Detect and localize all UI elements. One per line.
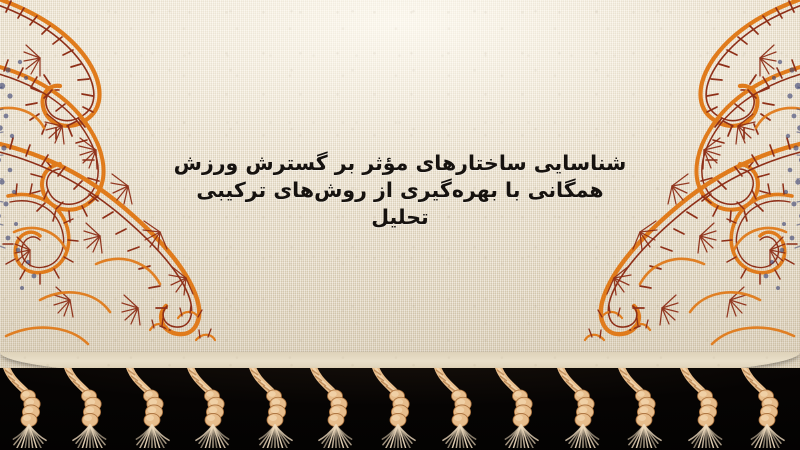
tassel bbox=[125, 368, 183, 448]
tassel bbox=[494, 368, 552, 448]
tassel bbox=[63, 368, 121, 448]
tassel bbox=[309, 368, 367, 448]
tassel bbox=[679, 368, 737, 448]
tassel bbox=[617, 368, 675, 448]
tassel bbox=[2, 368, 60, 448]
slide-title: شناسایی ساختارهای مؤثر بر گسترش ورزش همگ… bbox=[0, 150, 800, 231]
title-slide: شناسایی ساختارهای مؤثر بر گسترش ورزش همگ… bbox=[0, 0, 800, 450]
tassel bbox=[556, 368, 614, 448]
tassel-fringe bbox=[0, 368, 800, 450]
tassel bbox=[248, 368, 306, 448]
tassel bbox=[433, 368, 491, 448]
title-line-2: همگانی با بهره‌گیری از روش‌های ترکیبی bbox=[0, 177, 800, 204]
tassel bbox=[186, 368, 244, 448]
title-line-3: تحلیل bbox=[0, 204, 800, 231]
tassel bbox=[371, 368, 429, 448]
tassel bbox=[740, 368, 798, 448]
title-line-1: شناسایی ساختارهای مؤثر بر گسترش ورزش bbox=[0, 150, 800, 177]
